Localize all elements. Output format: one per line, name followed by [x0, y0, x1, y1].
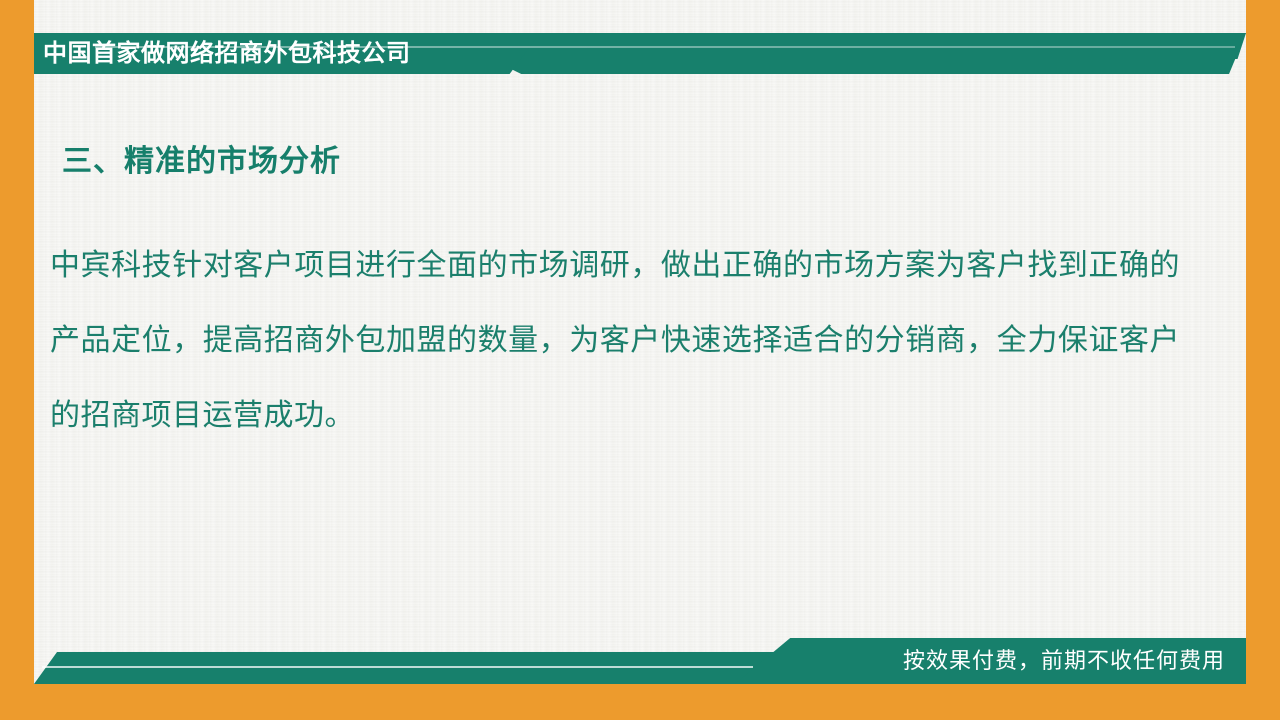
footer-tagline: 按效果付费，前期不收任何费用 — [735, 638, 1225, 684]
section-heading: 三、精准的市场分析 — [62, 136, 341, 180]
footer-divider-line — [42, 666, 753, 668]
header-title: 中国首家做网络招商外包科技公司 — [43, 33, 411, 74]
slide-root: 中国首家做网络招商外包科技公司 三、精准的市场分析 中宾科技针对客户项目进行全面… — [0, 0, 1280, 720]
body-paragraph: 中宾科技针对客户项目进行全面的市场调研，做出正确的市场方案为客户找到正确的产品定… — [50, 228, 1180, 453]
